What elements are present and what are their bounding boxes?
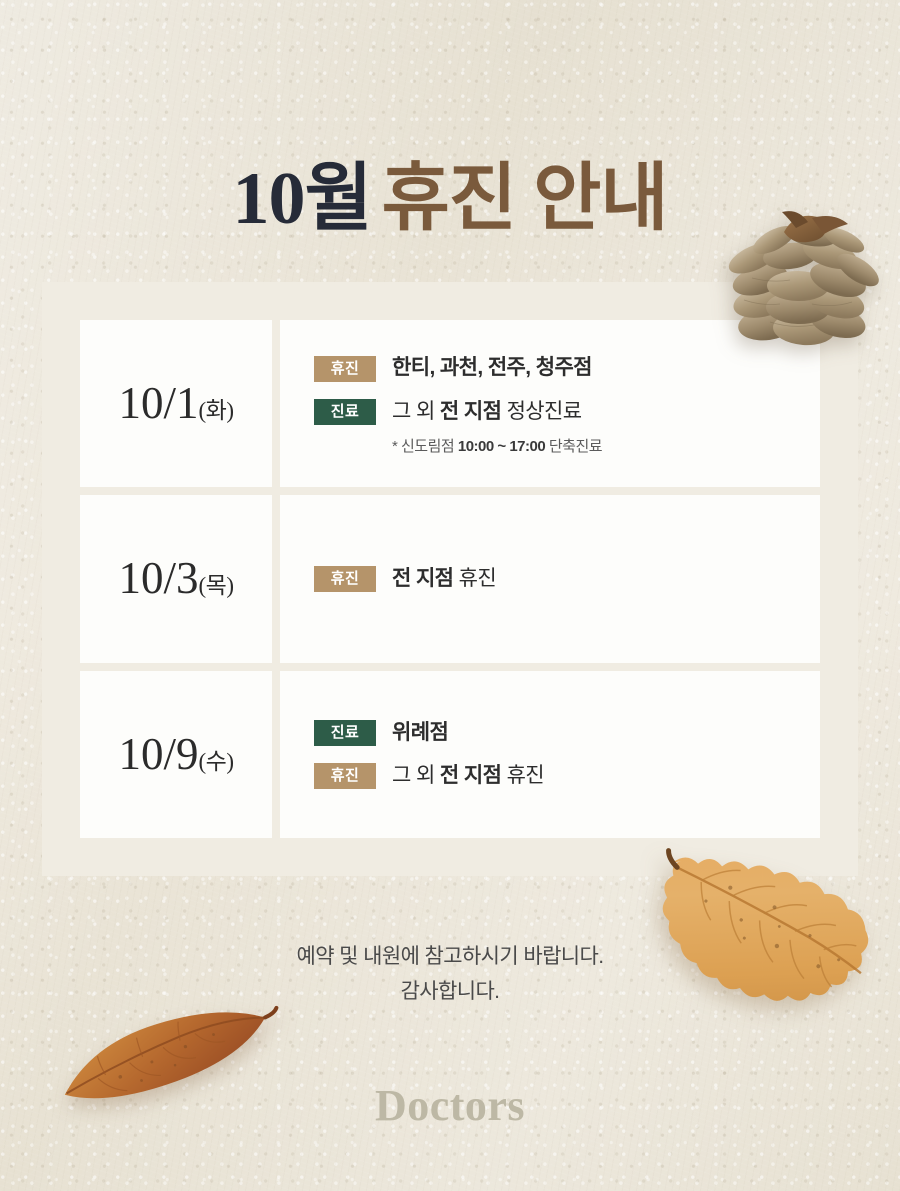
detail-line: 휴진 그 외 전 지점 휴진 <box>314 763 820 789</box>
detail-text-tail: 휴진 <box>453 567 496 590</box>
date-value: 10/9 <box>119 729 199 779</box>
poster-canvas: 10월휴진 안내 10/1(화) 휴진 한티, 과천, 전주, 청주점 진료 그… <box>0 0 900 1191</box>
status-badge-open: 진료 <box>314 399 376 425</box>
detail-text-plain: 그 외 <box>392 764 440 787</box>
title-month: 10월 <box>233 158 372 240</box>
status-badge-off: 휴진 <box>314 566 376 592</box>
detail-text: 전 지점 휴진 <box>392 566 496 592</box>
detail-text-bold: 위례점 <box>392 721 448 744</box>
page-title: 10월휴진 안내 <box>0 162 900 236</box>
detail-text-tail: 휴진 <box>501 764 544 787</box>
date-label: 10/3(목) <box>119 556 234 601</box>
table-row: 10/3(목) 휴진 전 지점 휴진 <box>80 495 820 662</box>
detail-text-bold: 전 지점 <box>392 567 453 590</box>
detail-line: 진료 그 외 전 지점 정상진료 <box>314 399 820 425</box>
date-cell: 10/9(수) <box>80 671 272 838</box>
table-row: 10/1(화) 휴진 한티, 과천, 전주, 청주점 진료 그 외 전 지점 정… <box>80 320 820 487</box>
footer-notice: 예약 및 내원에 참고하시기 바랍니다. 감사합니다. <box>0 940 900 1009</box>
footer-line-1: 예약 및 내원에 참고하시기 바랍니다. <box>0 940 900 975</box>
schedule-panel: 10/1(화) 휴진 한티, 과천, 전주, 청주점 진료 그 외 전 지점 정… <box>42 282 858 876</box>
note-prefix: * 신도림점 <box>392 438 458 455</box>
detail-line: 진료 위례점 <box>314 720 820 746</box>
detail-text: 그 외 전 지점 정상진료 <box>392 399 581 425</box>
date-label: 10/9(수) <box>119 732 234 777</box>
table-row: 10/9(수) 진료 위례점 휴진 그 외 전 지점 휴진 <box>80 671 820 838</box>
date-cell: 10/1(화) <box>80 320 272 487</box>
detail-line: 휴진 전 지점 휴진 <box>314 566 820 592</box>
date-value: 10/3 <box>119 553 199 603</box>
detail-note: * 신도림점 10:00 ~ 17:00 단축진료 <box>392 435 820 456</box>
detail-line: 휴진 한티, 과천, 전주, 청주점 <box>314 355 820 381</box>
date-value: 10/1 <box>119 378 199 428</box>
footer-line-2: 감사합니다. <box>0 975 900 1010</box>
detail-text-bold: 전 지점 <box>440 764 501 787</box>
detail-text-bold: 한티, 과천, 전주, 청주점 <box>392 356 592 379</box>
status-badge-off: 휴진 <box>314 763 376 789</box>
detail-cell: 진료 위례점 휴진 그 외 전 지점 휴진 <box>280 671 820 838</box>
date-dayofweek: (수) <box>199 749 234 774</box>
detail-cell: 휴진 전 지점 휴진 <box>280 495 820 662</box>
date-cell: 10/3(목) <box>80 495 272 662</box>
title-rest: 휴진 안내 <box>382 158 668 240</box>
detail-text-plain: 그 외 <box>392 400 440 423</box>
detail-text: 그 외 전 지점 휴진 <box>392 763 544 789</box>
date-dayofweek: (목) <box>199 573 234 598</box>
status-badge-open: 진료 <box>314 720 376 746</box>
note-suffix: 단축진료 <box>545 438 602 455</box>
date-dayofweek: (화) <box>199 398 234 423</box>
date-label: 10/1(화) <box>119 381 234 426</box>
detail-cell: 휴진 한티, 과천, 전주, 청주점 진료 그 외 전 지점 정상진료 * 신도… <box>280 320 820 487</box>
detail-text-tail: 정상진료 <box>501 400 581 423</box>
detail-text-bold: 전 지점 <box>440 400 501 423</box>
note-hours: 10:00 ~ 17:00 <box>458 438 545 455</box>
detail-text: 위례점 <box>392 720 448 746</box>
status-badge-off: 휴진 <box>314 356 376 382</box>
detail-text: 한티, 과천, 전주, 청주점 <box>392 355 592 381</box>
brand-logo: Doctors <box>0 1080 900 1131</box>
